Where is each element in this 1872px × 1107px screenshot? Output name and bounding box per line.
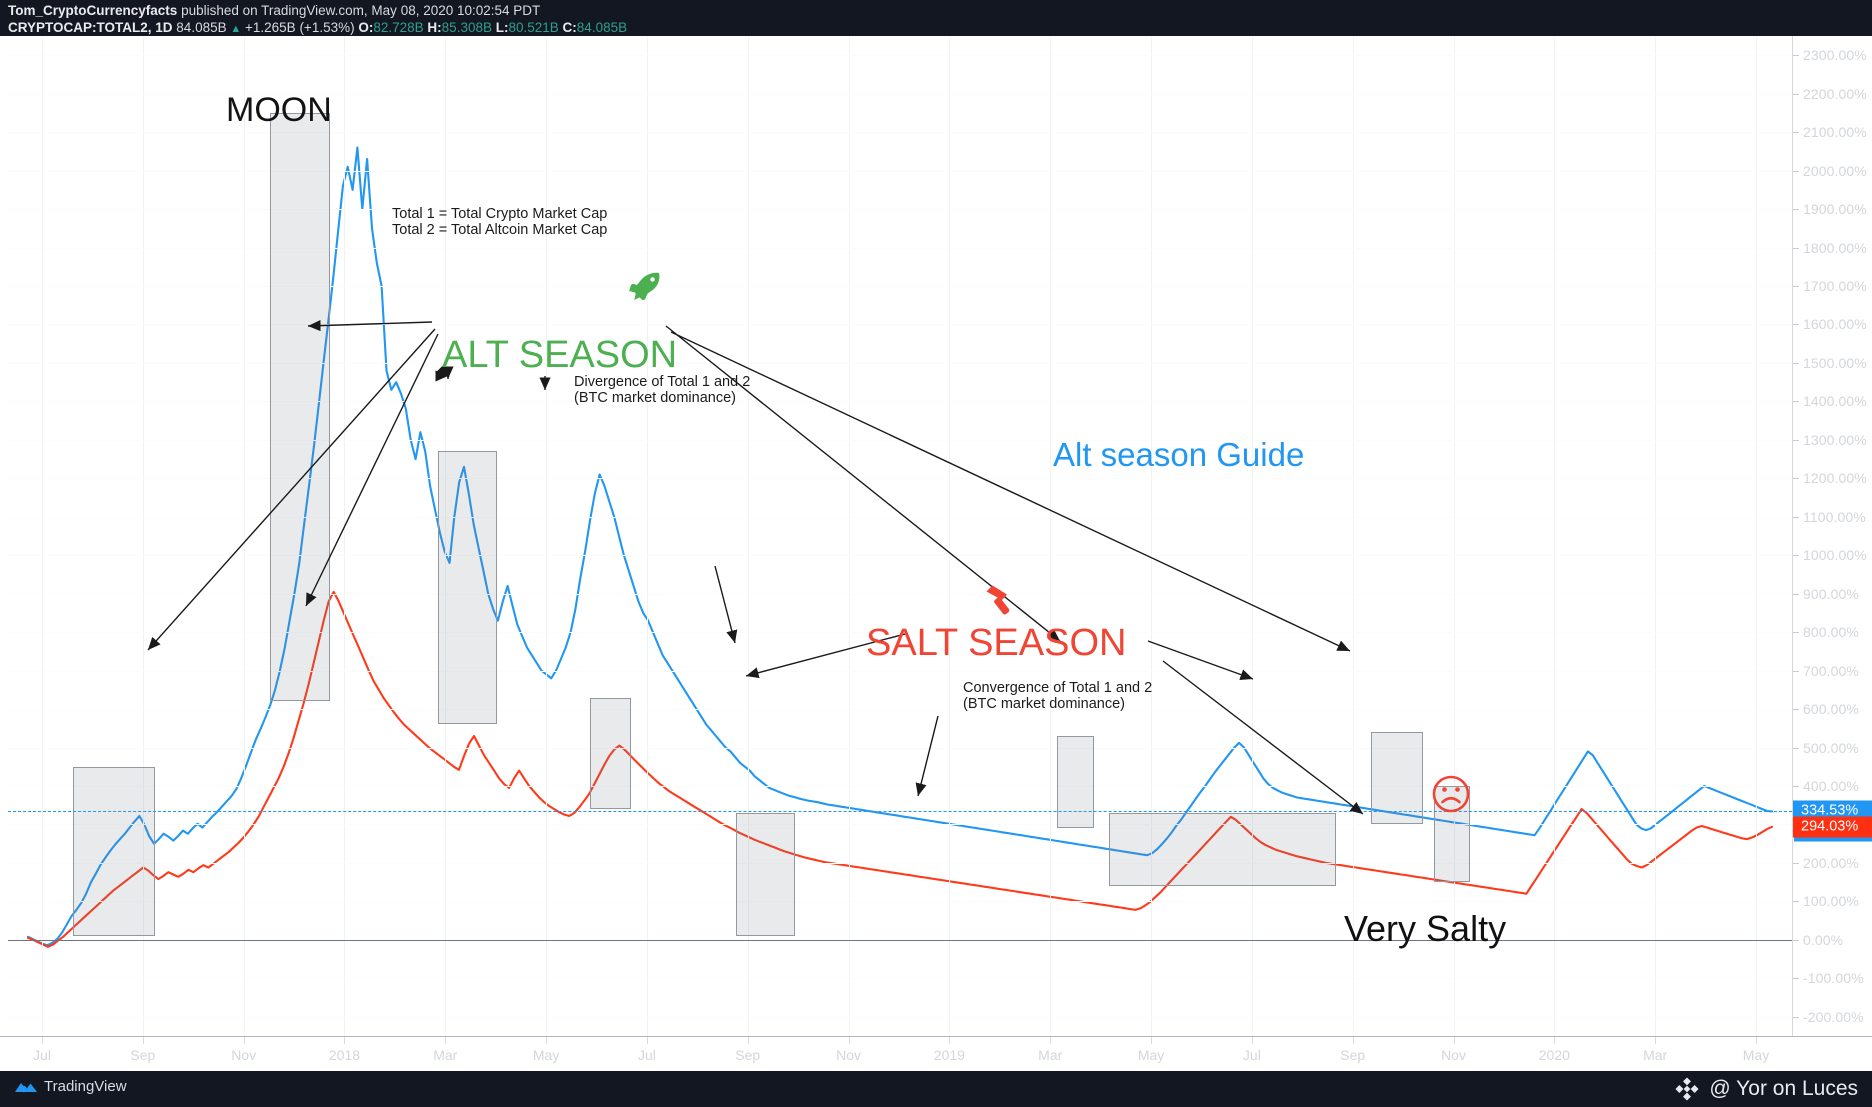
hammer-icon [980, 582, 1018, 620]
highlight-box-very-salty[interactable] [1109, 813, 1336, 886]
gridline-vertical [1454, 36, 1455, 1036]
price-tick [1793, 209, 1799, 210]
price-tick [1793, 517, 1799, 518]
gridline-vertical [1050, 36, 1051, 1036]
zero-baseline [8, 940, 1792, 941]
price-tick [1793, 555, 1799, 556]
price-tick-label: 1400.00% [1803, 393, 1867, 409]
price-tick-label: 200.00% [1803, 855, 1859, 871]
price-tick [1793, 978, 1799, 979]
last-price-dashed-line [8, 811, 1792, 812]
time-tick-label: Jul [33, 1047, 51, 1063]
time-tick-label: Mar [1038, 1047, 1062, 1063]
price-tick [1793, 94, 1799, 95]
time-tick [344, 1037, 345, 1044]
price-tick [1793, 940, 1799, 941]
price-tick-label: 800.00% [1803, 624, 1859, 640]
time-tick [1756, 1037, 1757, 1044]
price-tick [1793, 748, 1799, 749]
price-axis[interactable]: 2300.00%2200.00%2100.00%2000.00%1900.00%… [1792, 36, 1872, 1036]
open-value: 82.728B [373, 20, 423, 35]
gridline-vertical [42, 36, 43, 1036]
price-tick-label: 2300.00% [1803, 47, 1867, 63]
time-tick-label: 2018 [329, 1047, 360, 1063]
time-tick-label: Nov [836, 1047, 861, 1063]
low-value: 80.521B [508, 20, 558, 35]
gridline-vertical [949, 36, 950, 1036]
price-change: +1.265B (+1.53%) [245, 20, 355, 35]
time-tick-label: Nov [231, 1047, 256, 1063]
gridline-vertical [546, 36, 547, 1036]
price-tick [1793, 901, 1799, 902]
price-tick-label: 2200.00% [1803, 86, 1867, 102]
close-value: 84.085B [577, 20, 627, 35]
price-tick [1793, 363, 1799, 364]
divergence-note-line2: (BTC market dominance) [574, 390, 736, 406]
low-label: L: [496, 20, 509, 35]
frowning-face-icon [1431, 774, 1471, 814]
alt-season-guide-label: Alt season Guide [1053, 436, 1304, 474]
moon-label: MOON [226, 91, 332, 130]
time-tick-label: Sep [735, 1047, 760, 1063]
highlight-box-alt-season-2019[interactable] [1057, 736, 1094, 828]
time-tick [647, 1037, 648, 1044]
convergence-note-line1: Convergence of Total 1 and 2 [963, 680, 1152, 696]
price-tick [1793, 132, 1799, 133]
time-tick-label: 2019 [934, 1047, 965, 1063]
gridline-horizontal [8, 978, 1792, 979]
time-tick [949, 1037, 950, 1044]
very-salty-label: Very Salty [1344, 908, 1506, 950]
time-tick [143, 1037, 144, 1044]
time-tick-label: Jul [638, 1047, 656, 1063]
gridline-vertical [1252, 36, 1253, 1036]
price-tick [1793, 786, 1799, 787]
price-tick-label: 100.00% [1803, 893, 1859, 909]
highlight-box-alt-season-2018[interactable] [438, 451, 497, 724]
gridline-horizontal [8, 55, 1792, 56]
tradingview-mountain-icon [14, 1079, 38, 1095]
price-tick [1793, 671, 1799, 672]
price-tick-label: -100.00% [1803, 970, 1864, 986]
gridline-vertical [1655, 36, 1656, 1036]
gridline-horizontal [8, 863, 1792, 864]
binance-diamond-icon [1674, 1076, 1700, 1102]
price-tick [1793, 171, 1799, 172]
time-tick-label: Sep [130, 1047, 155, 1063]
chart-plot-area[interactable]: MOON Total 1 = Total Crypto Market Cap T… [8, 36, 1792, 1036]
time-tick-label: May [1138, 1047, 1164, 1063]
published-meta: published on TradingView.com, May 08, 20… [181, 3, 540, 18]
last-price: 84.085B [176, 20, 226, 35]
tradingview-logo[interactable]: TradingView [14, 1078, 127, 1095]
price-tick-label: 1900.00% [1803, 201, 1867, 217]
price-tick-label: -200.00% [1803, 1009, 1864, 1025]
publisher-line: Tom_CryptoCurrencyfacts published on Tra… [8, 3, 540, 18]
divergence-note-line1: Divergence of Total 1 and 2 [574, 374, 750, 390]
price-badge-total2[interactable]: 294.03% [1793, 816, 1872, 837]
rocket-icon [627, 268, 665, 306]
time-tick-label: Sep [1340, 1047, 1365, 1063]
high-label: H: [427, 20, 441, 35]
gridline-horizontal [8, 901, 1792, 902]
price-tick-label: 1500.00% [1803, 355, 1867, 371]
time-tick [1554, 1037, 1555, 1044]
price-tick [1793, 55, 1799, 56]
time-tick-label: Mar [433, 1047, 457, 1063]
highlight-box-moon-run[interactable] [270, 113, 329, 701]
highlight-box-early-accumulation[interactable] [73, 767, 155, 936]
time-tick [244, 1037, 245, 1044]
price-tick [1793, 478, 1799, 479]
high-value: 85.308B [442, 20, 492, 35]
time-tick-label: 2020 [1539, 1047, 1570, 1063]
price-tick [1793, 863, 1799, 864]
gridline-horizontal [8, 824, 1792, 825]
time-tick [1655, 1037, 1656, 1044]
price-tick-label: 400.00% [1803, 778, 1859, 794]
time-tick [748, 1037, 749, 1044]
alt-season-label: ALT SEASON [442, 334, 677, 377]
highlight-box-salt-season-2018[interactable] [736, 813, 795, 936]
time-tick [546, 1037, 547, 1044]
time-tick [1252, 1037, 1253, 1044]
gridline-vertical [244, 36, 245, 1036]
price-tick [1793, 286, 1799, 287]
price-tick [1793, 248, 1799, 249]
price-tick [1793, 594, 1799, 595]
time-axis[interactable]: JulSepNov2018MarMayJulSepNov2019MarMayJu… [0, 1036, 1872, 1072]
gridline-horizontal [8, 709, 1792, 710]
publisher-name: Tom_CryptoCurrencyfacts [8, 3, 177, 18]
chart-header: Tom_CryptoCurrencyfacts published on Tra… [0, 0, 1872, 36]
price-tick-label: 500.00% [1803, 740, 1859, 756]
symbol-label[interactable]: CRYPTOCAP:TOTAL2, 1D [8, 20, 173, 35]
gridline-vertical [1554, 36, 1555, 1036]
author-watermark: @ Yor on Luces [1674, 1076, 1858, 1102]
gridline-horizontal [8, 1017, 1792, 1018]
price-tick [1793, 1017, 1799, 1018]
price-tick-label: 1600.00% [1803, 316, 1867, 332]
open-label: O: [358, 20, 373, 35]
price-tick [1793, 440, 1799, 441]
convergence-note-line2: (BTC market dominance) [963, 696, 1125, 712]
time-tick-label: Nov [1441, 1047, 1466, 1063]
salt-season-label: SALT SEASON [866, 622, 1126, 665]
time-tick [849, 1037, 850, 1044]
price-tick-label: 900.00% [1803, 586, 1859, 602]
price-tick [1793, 401, 1799, 402]
price-tick [1793, 324, 1799, 325]
price-tick-label: 2100.00% [1803, 124, 1867, 140]
gridline-horizontal [8, 786, 1792, 787]
gridline-vertical [647, 36, 648, 1036]
time-tick-label: Mar [1643, 1047, 1667, 1063]
chart-footer: TradingView @ Yor on Luces [0, 1071, 1872, 1107]
price-tick-label: 1100.00% [1803, 509, 1866, 525]
time-tick [42, 1037, 43, 1044]
time-tick [445, 1037, 446, 1044]
watermark-text: @ Yor on Luces [1709, 1077, 1858, 1101]
close-label: C: [563, 20, 577, 35]
price-tick-label: 1200.00% [1803, 470, 1867, 486]
time-tick-label: May [533, 1047, 559, 1063]
tradingview-wordmark: TradingView [44, 1078, 127, 1095]
legend-note-line1: Total 1 = Total Crypto Market Cap [392, 206, 607, 222]
gridline-vertical [344, 36, 345, 1036]
time-tick-label: Jul [1243, 1047, 1261, 1063]
time-tick [1353, 1037, 1354, 1044]
legend-note-line2: Total 2 = Total Altcoin Market Cap [392, 222, 607, 238]
time-tick-label: May [1743, 1047, 1769, 1063]
gridline-vertical [1756, 36, 1757, 1036]
price-tick-label: 600.00% [1803, 701, 1859, 717]
gridline-vertical [1151, 36, 1152, 1036]
price-tick-label: 700.00% [1803, 663, 1859, 679]
chart-plate: MOON Total 1 = Total Crypto Market Cap T… [0, 36, 1872, 1071]
price-tick [1793, 709, 1799, 710]
gridline-vertical [1353, 36, 1354, 1036]
price-tick-label: 1700.00% [1803, 278, 1867, 294]
price-tick-label: 1300.00% [1803, 432, 1867, 448]
time-tick [1454, 1037, 1455, 1044]
price-tick-label: 0.00% [1803, 932, 1843, 948]
gridline-vertical [849, 36, 850, 1036]
highlight-box-divergence-mid-2018[interactable] [590, 698, 632, 810]
price-tick-label: 2000.00% [1803, 163, 1867, 179]
symbol-quote-line: CRYPTOCAP:TOTAL2, 1D 84.085B ▲ +1.265B (… [8, 20, 627, 35]
tradingview-chart-screenshot: Tom_CryptoCurrencyfacts published on Tra… [0, 0, 1872, 1107]
time-tick [1151, 1037, 1152, 1044]
price-tick [1793, 632, 1799, 633]
up-arrow-icon: ▲ [230, 23, 241, 35]
price-tick-label: 1800.00% [1803, 240, 1867, 256]
gridline-horizontal [8, 748, 1792, 749]
price-tick-label: 1000.00% [1803, 547, 1867, 563]
time-tick [1050, 1037, 1051, 1044]
